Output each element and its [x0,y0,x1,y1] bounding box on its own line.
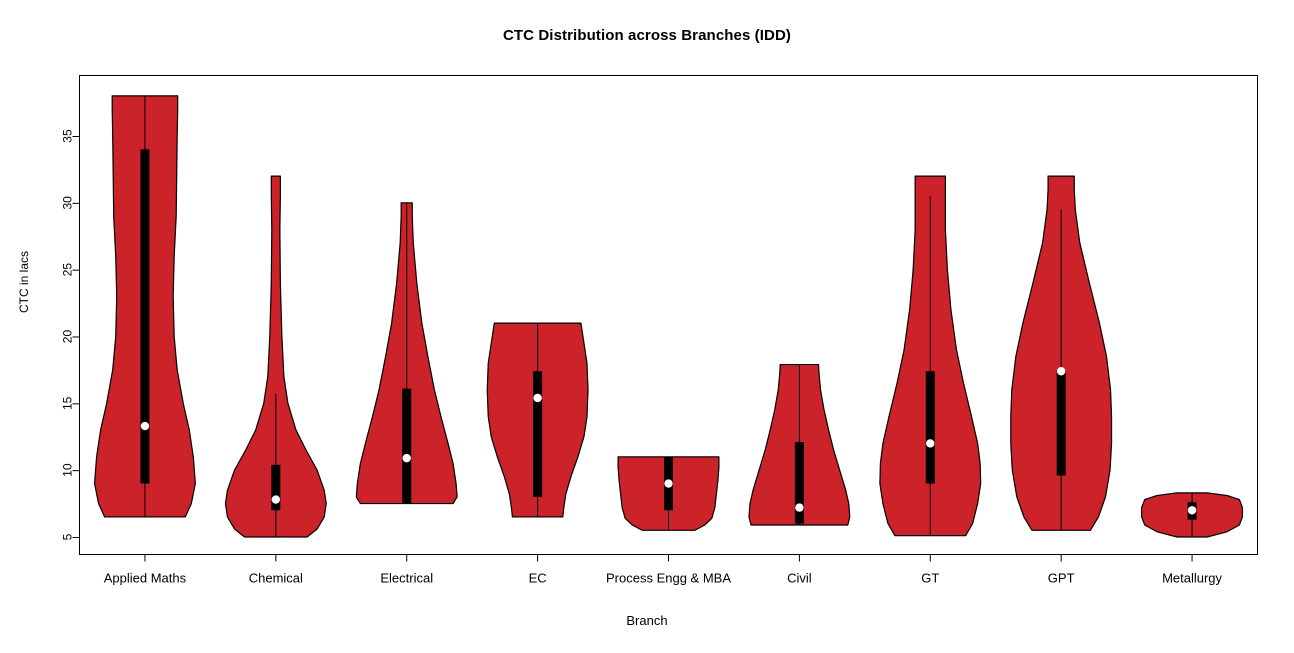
interquartile-box [533,371,542,497]
median-point [664,479,672,487]
violin-layer [95,96,1243,537]
violin-group [749,365,850,525]
violin-group [487,323,588,517]
x-axis-category-label: Civil [787,571,812,586]
y-axis-tick-label: 25 [61,263,75,277]
y-axis-tick-label: 30 [61,196,75,210]
median-point [272,495,280,503]
x-axis-category-label: EC [529,571,547,586]
x-axis-category-label: Process Engg & MBA [606,571,731,586]
y-axis-tick-label: 20 [61,330,75,344]
y-axis-tick-label: 5 [61,533,75,540]
violin-group [1011,176,1112,530]
category-label-layer: Applied MathsChemicalElectricalECProcess… [104,555,1223,586]
x-axis-category-label: Electrical [380,571,433,586]
x-axis-category-label: GPT [1048,571,1075,586]
interquartile-box [1057,371,1066,475]
y-axis-tick-label: 35 [61,129,75,143]
interquartile-box [140,149,149,483]
plot-canvas: 5101520253035 Applied MathsChemicalElect… [0,0,1294,653]
median-point [141,422,149,430]
median-point [403,454,411,462]
median-point [533,394,541,402]
violin-group [356,203,457,504]
x-axis-category-label: Applied Maths [104,571,187,586]
violin-group [880,176,981,536]
x-axis-category-label: Metallurgy [1162,571,1222,586]
violin-group [618,457,719,531]
y-axis-tick-label: 15 [61,396,75,410]
violin-plot-figure: CTC Distribution across Branches (IDD) C… [0,0,1294,653]
x-axis-category-label: Chemical [249,571,303,586]
violin-group [1142,493,1243,537]
median-point [1057,367,1065,375]
axis-layer: 5101520253035 [61,129,80,540]
interquartile-box [402,389,411,504]
interquartile-box [926,371,935,483]
median-point [795,503,803,511]
median-point [926,439,934,447]
violin-group [225,176,326,537]
y-axis-tick-label: 10 [61,463,75,477]
median-point [1188,506,1196,514]
violin-group [95,96,196,517]
x-axis-category-label: GT [921,571,939,586]
